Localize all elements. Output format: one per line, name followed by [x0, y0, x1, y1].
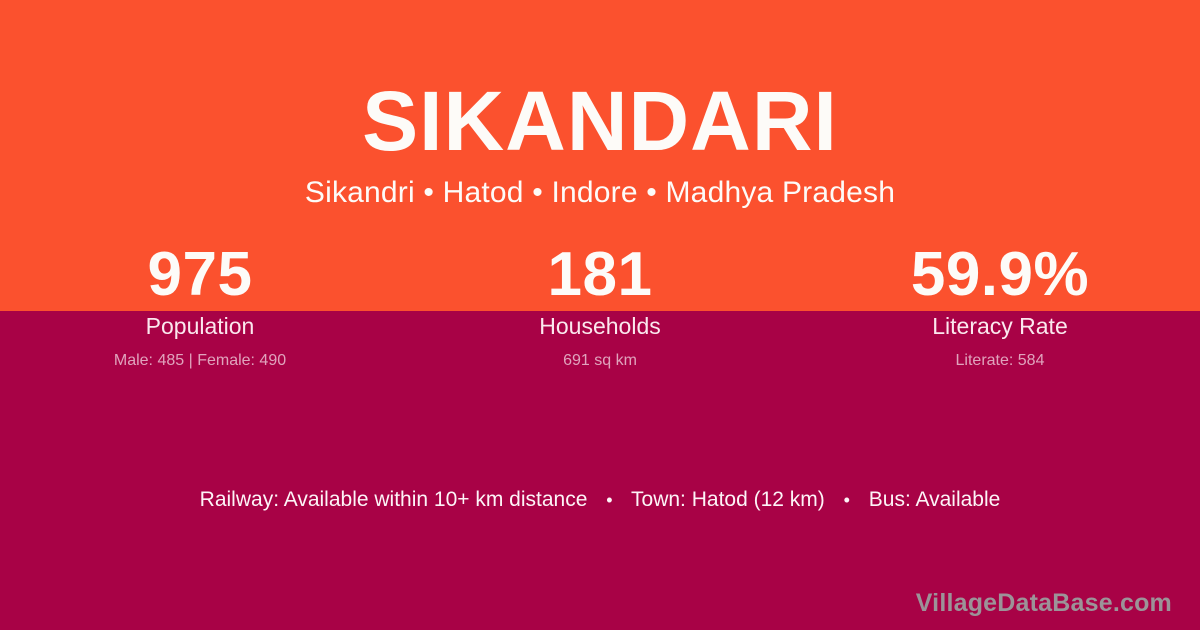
stat-households: 181 Households 691 sq km — [400, 243, 800, 371]
stat-population-sub: Male: 485 | Female: 490 — [0, 351, 400, 371]
card-header: SIKANDARI Sikandri • Hatod • Indore • Ma… — [0, 0, 1200, 210]
stat-literacy-rate: 59.9% Literacy Rate Literate: 584 — [800, 243, 1200, 371]
stat-households-label: Households — [400, 313, 800, 340]
stats-row: 975 Population Male: 485 | Female: 490 1… — [0, 243, 1200, 371]
stat-literacy-rate-value: 59.9% — [800, 243, 1200, 311]
fact-bus: Bus: Available — [869, 488, 1001, 511]
breadcrumb: Sikandri • Hatod • Indore • Madhya Prade… — [0, 176, 1200, 210]
fact-town: Town: Hatod (12 km) — [631, 488, 825, 511]
fact-railway: Railway: Available within 10+ km distanc… — [200, 488, 588, 511]
page-title: SIKANDARI — [0, 78, 1200, 164]
bullet-separator-icon: • — [831, 486, 863, 514]
village-info-card: SIKANDARI Sikandri • Hatod • Indore • Ma… — [0, 0, 1200, 630]
stat-literacy-rate-label: Literacy Rate — [800, 313, 1200, 340]
stat-households-sub: 691 sq km — [400, 351, 800, 371]
site-watermark: VillageDataBase.com — [916, 588, 1172, 618]
stat-population-value: 975 — [0, 243, 400, 311]
stat-literacy-rate-sub: Literate: 584 — [800, 351, 1200, 371]
stat-population-label: Population — [0, 313, 400, 340]
facts-line: Railway: Available within 10+ km distanc… — [0, 486, 1200, 514]
stat-population: 975 Population Male: 485 | Female: 490 — [0, 243, 400, 371]
bullet-separator-icon: • — [593, 486, 625, 514]
stat-households-value: 181 — [400, 243, 800, 311]
